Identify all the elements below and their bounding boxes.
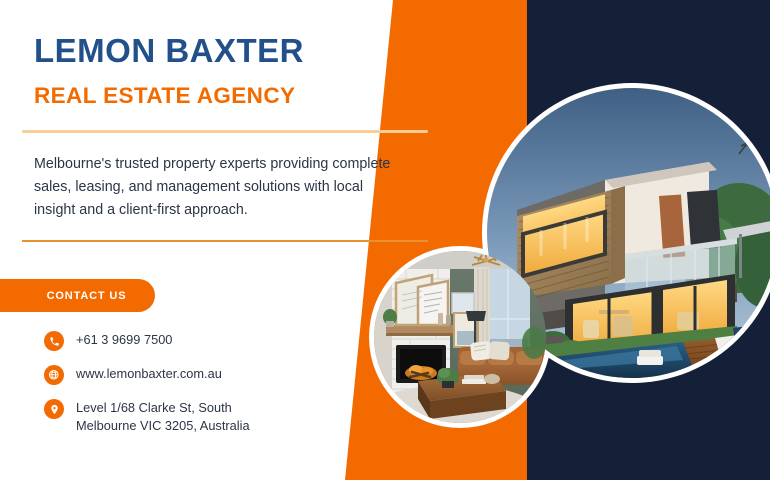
address-text: Level 1/68 Clarke St, South Melbourne VI…: [76, 398, 250, 435]
contact-us-button[interactable]: CONTACT US: [0, 279, 155, 312]
contact-us-label: CONTACT US: [29, 290, 127, 302]
website-url: www.lemonbaxter.com.au: [76, 364, 222, 383]
globe-icon: [44, 365, 64, 385]
contact-row-phone[interactable]: +61 3 9699 7500: [44, 330, 250, 351]
phone-number: +61 3 9699 7500: [76, 330, 172, 349]
intro-paragraph: Melbourne's trusted property experts pro…: [34, 153, 399, 222]
divider-top: [22, 130, 428, 133]
address-line-2: Melbourne VIC 3205, Australia: [76, 418, 250, 433]
divider-bottom: [22, 240, 428, 242]
brand-tagline: REAL ESTATE AGENCY: [34, 83, 440, 109]
contact-details-list: +61 3 9699 7500 www.lemonbaxter.com.au L…: [44, 330, 250, 448]
contact-row-website[interactable]: www.lemonbaxter.com.au: [44, 364, 250, 385]
page-title: LEMON BAXTER: [34, 34, 440, 69]
location-icon: [44, 399, 64, 419]
contact-row-address[interactable]: Level 1/68 Clarke St, South Melbourne VI…: [44, 398, 250, 435]
phone-icon: [44, 331, 64, 351]
address-line-1: Level 1/68 Clarke St, South: [76, 400, 232, 415]
business-card-banner: LEMON BAXTER REAL ESTATE AGENCY Melbourn…: [0, 0, 770, 480]
